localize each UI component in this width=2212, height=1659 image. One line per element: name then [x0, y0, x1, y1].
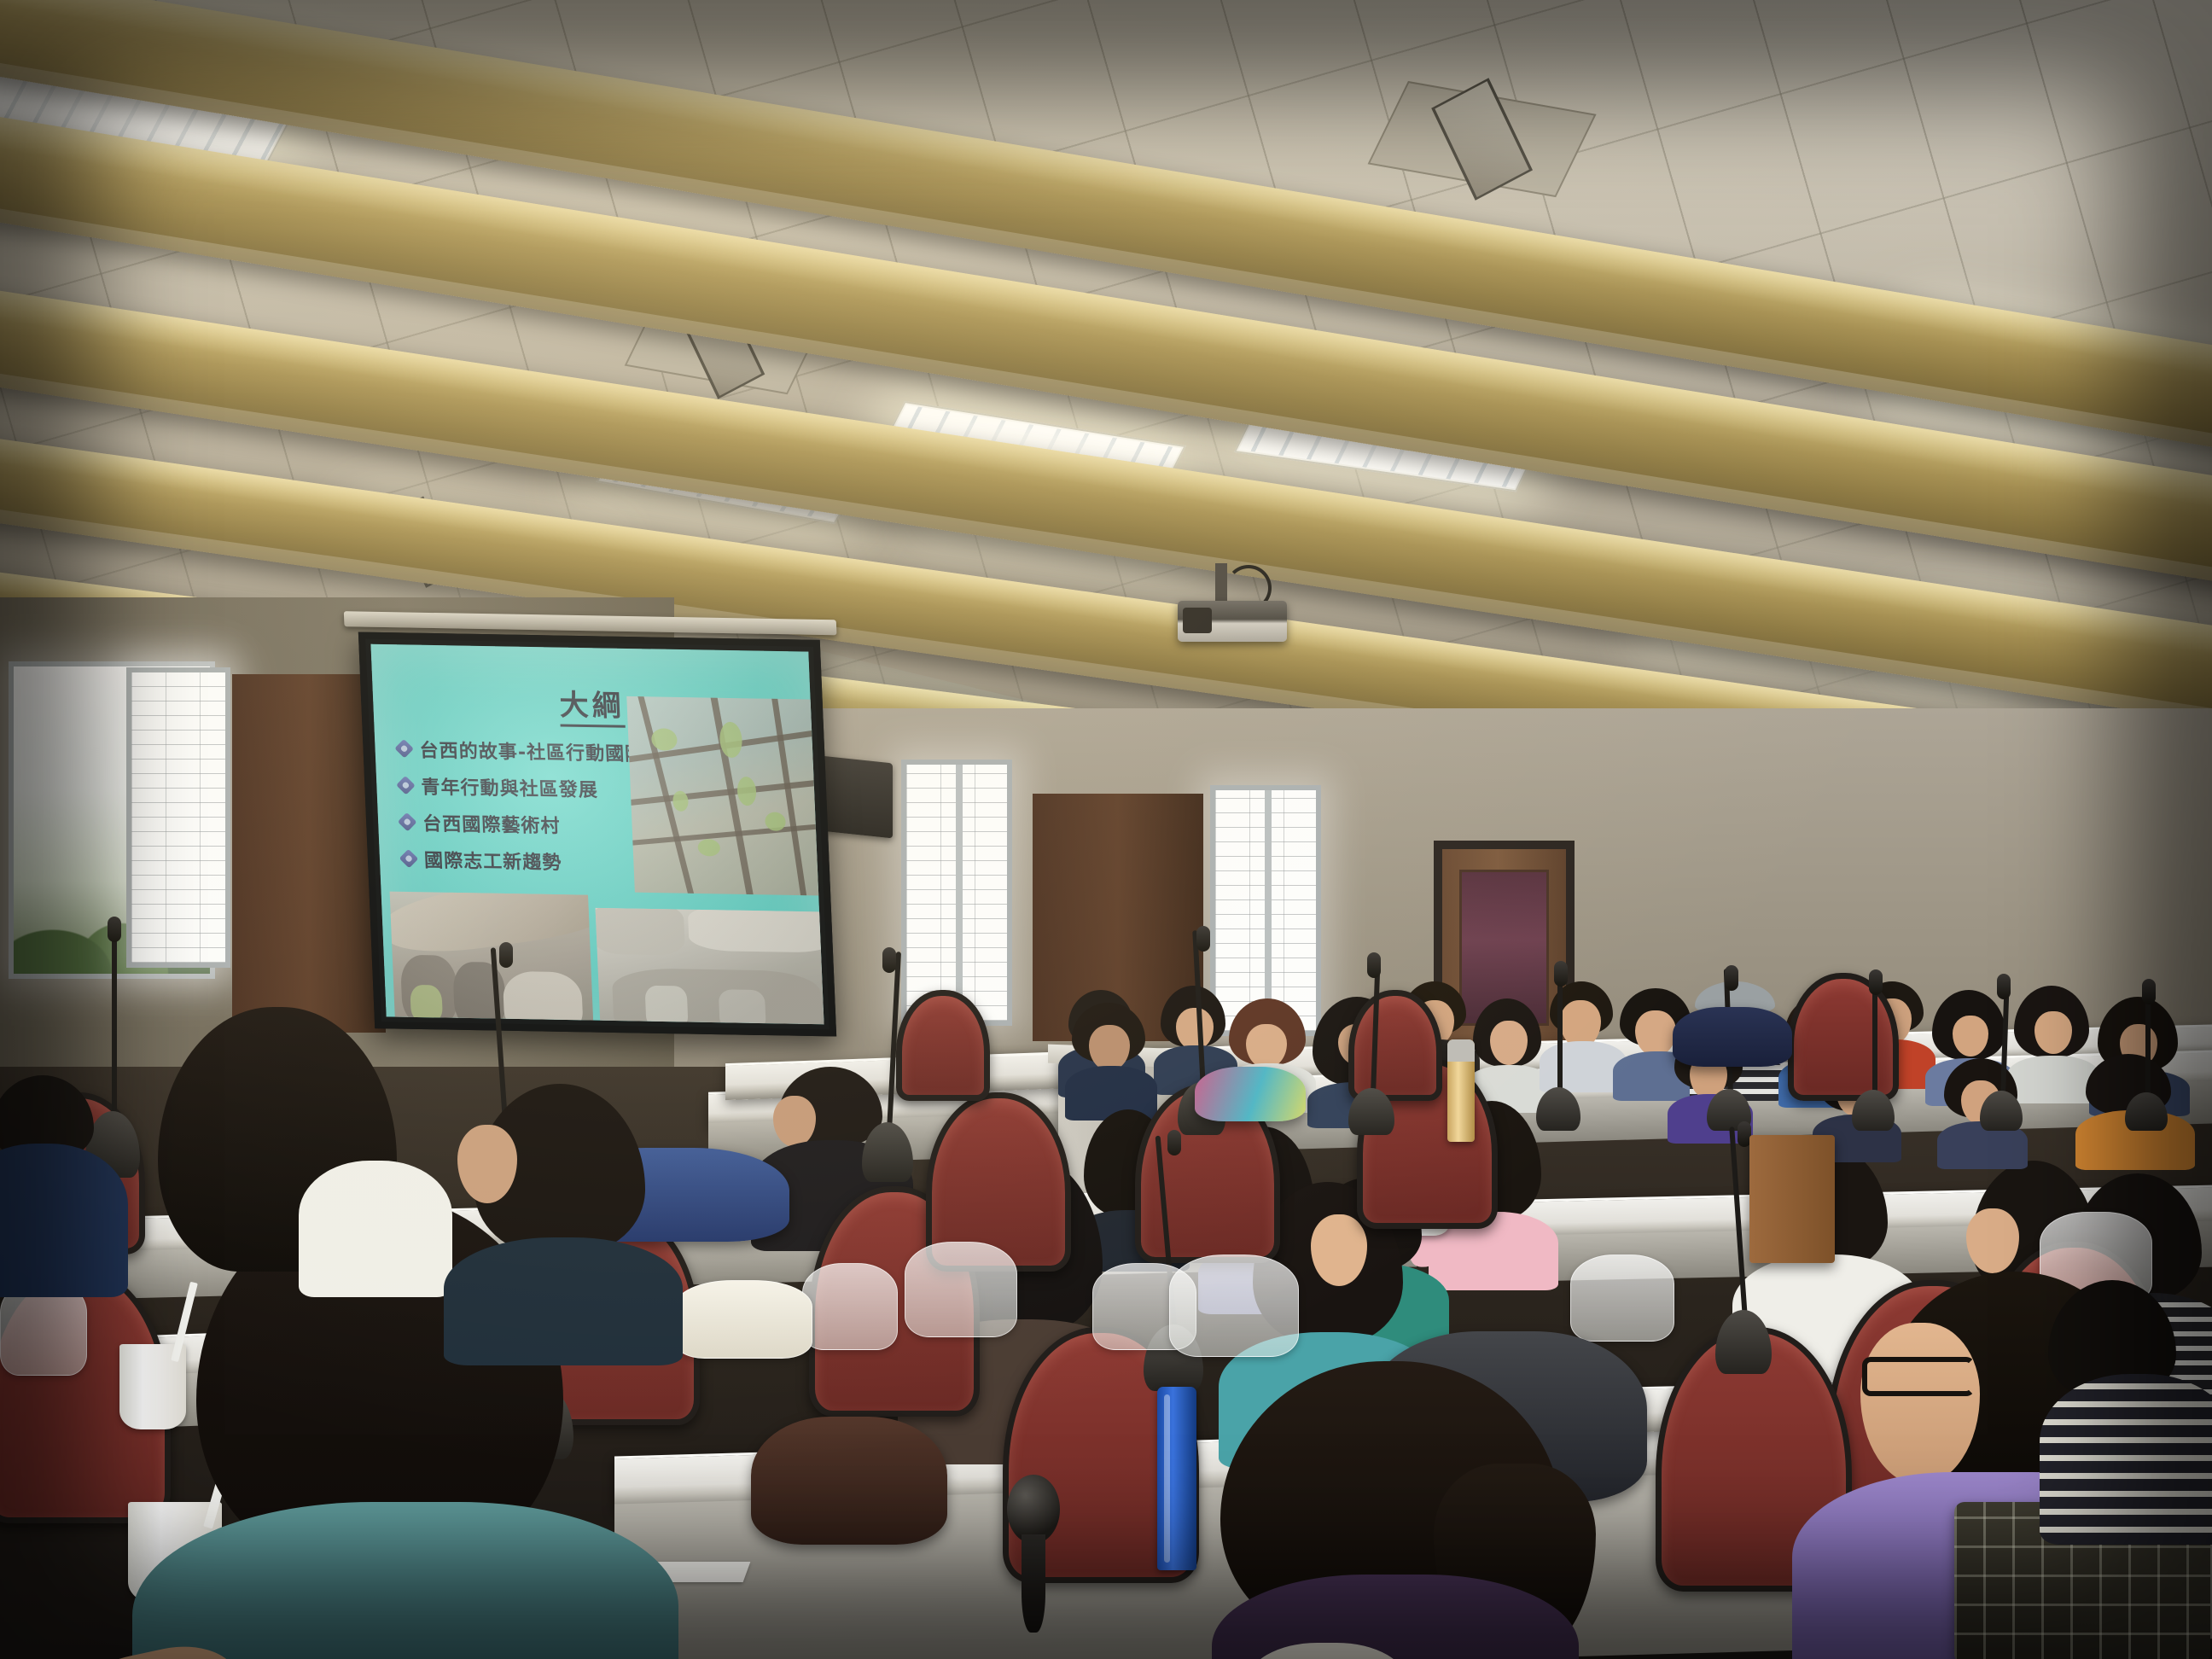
teal-hoodie: [132, 1502, 678, 1659]
diamond-bullet-icon: [402, 852, 416, 865]
student-with-glasses-left: [461, 1084, 657, 1340]
projector-lens: [1183, 608, 1212, 633]
desk-microphone[interactable]: [2125, 981, 2168, 1131]
leather-handbag[interactable]: [751, 1417, 947, 1545]
lecture-hall-photo: 大綱 台西的故事-社區行動國際化 青年行動與社區發展 台西國際藝術村 國際志: [0, 0, 2212, 1659]
diamond-bullet-icon: [399, 778, 413, 792]
foreground-student-white-shirt: [299, 1109, 452, 1280]
window-back-1: [901, 760, 1012, 1026]
microphone-grille: [1007, 1475, 1060, 1544]
audience-member: [2012, 986, 2093, 1091]
diamond-bullet-icon: [400, 815, 415, 829]
white-towel: [674, 1280, 812, 1359]
presentation-slide: 大綱 台西的故事-社區行動國際化 青年行動與社區發展 台西國際藝術村 國際志: [370, 644, 824, 1025]
eyeglasses: [1862, 1357, 1975, 1396]
colorful-bag: [1195, 1067, 1306, 1121]
window-left-brick-pane: [126, 667, 230, 968]
desk-microphone[interactable]: [1852, 973, 1895, 1131]
desk-microphone[interactable]: [862, 952, 913, 1182]
plastic-bag: [1169, 1254, 1299, 1357]
slide-photo-village: [596, 908, 824, 1024]
microphone-body: [1022, 1534, 1045, 1633]
desk-microphone[interactable]: [1536, 964, 1580, 1131]
navy-bag-back: [1673, 1007, 1792, 1067]
student-striped-shirt-foreground: [2048, 1280, 2212, 1536]
plastic-bag: [1570, 1254, 1674, 1342]
foreground-student-ponytail: [1186, 1361, 1630, 1659]
desk-microphone[interactable]: [1980, 977, 2023, 1131]
projection-screen: 大綱 台西的故事-社區行動國際化 青年行動與社區發展 台西國際藝術村 國際志: [358, 632, 836, 1036]
desk-microphone[interactable]: [1348, 956, 1394, 1135]
cardboard-box: [1749, 1135, 1835, 1263]
wall-speaker: [821, 756, 893, 839]
plastic-bag: [802, 1263, 898, 1350]
student-left-edge: [0, 1075, 111, 1272]
diamond-bullet-icon: [397, 742, 411, 755]
water-bottle[interactable]: [1447, 1039, 1475, 1142]
ceiling-projector: [1178, 563, 1297, 645]
plastic-bag: [905, 1242, 1017, 1337]
slide-photo-trellis: [626, 696, 824, 896]
handheld-microphone[interactable]: [1007, 1475, 1060, 1633]
